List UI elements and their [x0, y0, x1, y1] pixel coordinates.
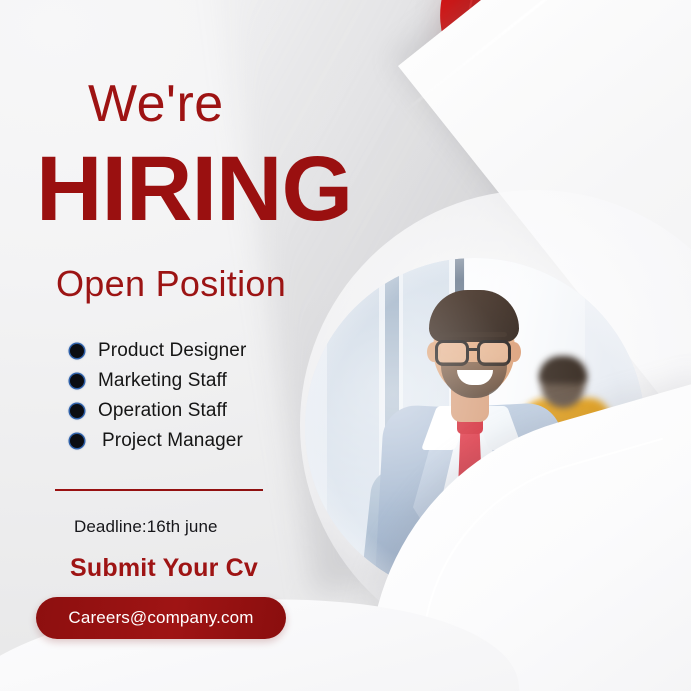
hiring-poster: We're HIRING Open Position Product Desig… [0, 0, 691, 691]
bullet-icon [70, 344, 84, 358]
bullet-icon [70, 404, 84, 418]
section-title-open-position: Open Position [56, 266, 286, 302]
divider [55, 489, 263, 491]
bullet-icon [70, 434, 84, 448]
list-item: Project Manager [70, 426, 246, 456]
submit-cv-heading: Submit Your Cv [70, 554, 258, 583]
deadline-text: Deadline:16th june [74, 517, 218, 537]
open-positions-list: Product Designer Marketing Staff Operati… [70, 336, 246, 456]
position-label: Product Designer [98, 340, 246, 362]
bullet-icon [70, 374, 84, 388]
headline-small: We're [88, 78, 224, 130]
position-label: Operation Staff [98, 400, 227, 422]
position-label: Marketing Staff [98, 370, 227, 392]
email-label: Careers@company.com [68, 608, 253, 628]
list-item: Operation Staff [70, 396, 246, 426]
list-item: Product Designer [70, 336, 246, 366]
position-label: Project Manager [102, 430, 243, 452]
page-title: HIRING [36, 143, 352, 235]
poster-content: We're HIRING Open Position Product Desig… [0, 0, 691, 691]
list-item: Marketing Staff [70, 366, 246, 396]
email-button[interactable]: Careers@company.com [36, 597, 286, 639]
